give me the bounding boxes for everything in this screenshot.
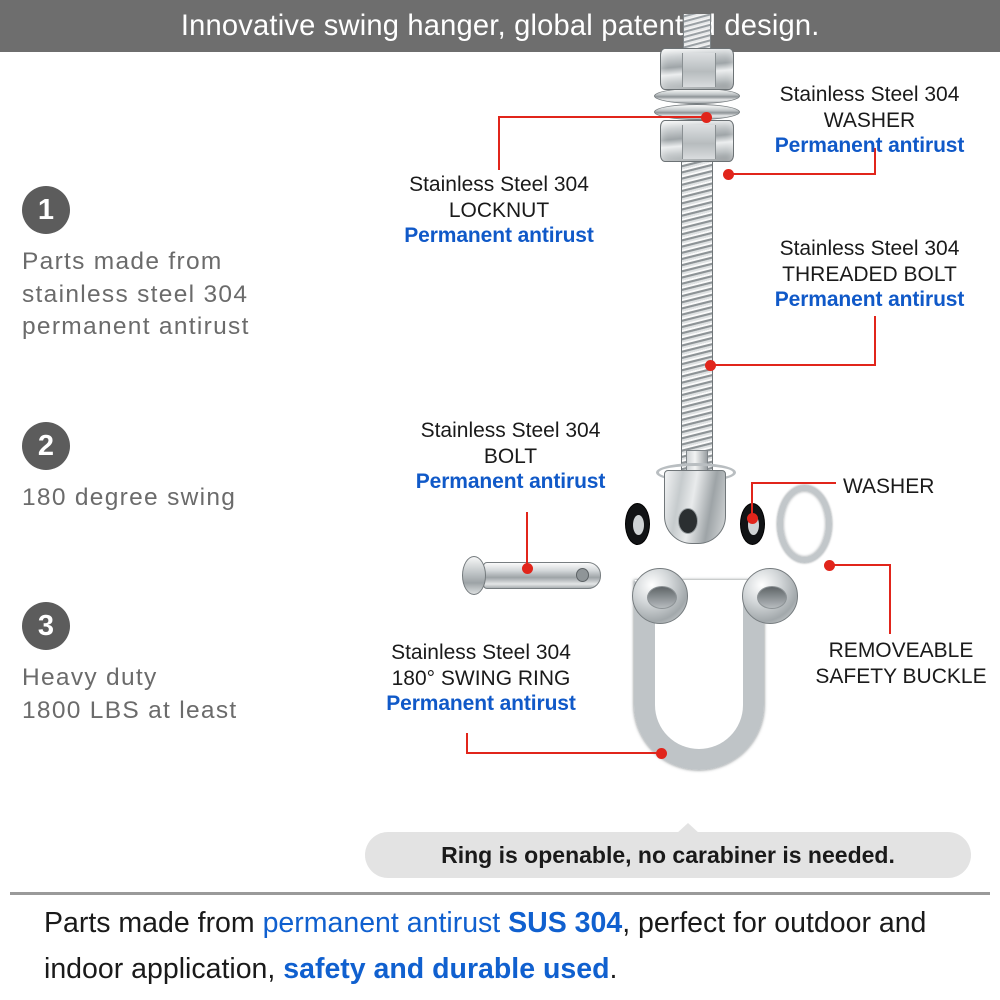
annotation-washer-top: Stainless Steel 304 WASHER Permanent ant…	[742, 82, 997, 159]
bracket-eye-hole-icon	[678, 508, 698, 534]
footer-part-2-highlight: permanent antirust	[263, 907, 509, 939]
annotation-threaded-bolt-line-3: Permanent antirust	[742, 287, 997, 313]
leader-line-threaded-bolt-h	[710, 364, 876, 366]
leader-line-locknut-v	[498, 116, 500, 170]
feature-1-line-1: Parts made from	[22, 248, 223, 275]
feature-item-2-label: 180 degree swing	[22, 482, 236, 515]
number-badge-1-icon: 1	[22, 186, 70, 234]
metal-washer-icon	[654, 88, 740, 104]
annotation-washer-top-line-2: WASHER	[742, 108, 997, 134]
annotation-washer-top-line-3: Permanent antirust	[742, 133, 997, 159]
feature-item-3-label: Heavy duty 1800 LBS at least	[22, 662, 238, 727]
callout-text: Ring is openable, no carabiner is needed…	[441, 842, 895, 869]
number-badge-3-icon: 3	[22, 602, 70, 650]
footer-divider	[10, 892, 990, 895]
annotation-locknut: Stainless Steel 304 LOCKNUT Permanent an…	[370, 172, 628, 249]
annotation-safety-buckle-line-2: SAFETY BUCKLE	[805, 664, 997, 690]
leader-line-safety-buckle-h	[829, 564, 891, 566]
annotation-bolt-line-3: Permanent antirust	[383, 469, 638, 495]
callout-banner: Ring is openable, no carabiner is needed…	[365, 832, 971, 878]
annotation-swing-ring-line-3: Permanent antirust	[352, 691, 610, 717]
footer-part-3-material: SUS 304	[508, 907, 622, 939]
leader-line-safety-buckle-v	[889, 564, 891, 634]
feature-3-line-1: Heavy duty	[22, 664, 158, 691]
hex-nut-icon	[660, 48, 734, 90]
swivel-bracket-icon	[664, 470, 726, 544]
annotation-washer-rubber: WASHER	[843, 474, 993, 500]
annotation-safety-buckle-line-1: REMOVEABLE	[805, 638, 997, 664]
annotation-threaded-bolt-line-1: Stainless Steel 304	[742, 236, 997, 262]
footer-text: Parts made from permanent antirust SUS 3…	[44, 900, 974, 992]
leader-line-swing-ring-h	[466, 752, 661, 754]
footer-part-1: Parts made from	[44, 907, 263, 939]
leader-line-threaded-bolt-v	[874, 316, 876, 366]
clevis-pin-hole-icon	[576, 568, 589, 582]
feature-item-2: 2 180 degree swing	[22, 422, 236, 515]
leader-line-washer-rubber-h	[751, 482, 836, 484]
hex-nut-icon	[660, 120, 734, 162]
leader-line-washer-top-h	[728, 173, 876, 175]
annotation-threaded-bolt: Stainless Steel 304 THREADED BOLT Perman…	[742, 236, 997, 313]
feature-item-1: 1 Parts made from stainless steel 304 pe…	[22, 186, 250, 344]
footer-part-5-highlight: safety and durable used	[283, 953, 609, 985]
number-badge-2-icon: 2	[22, 422, 70, 470]
annotation-bolt-line-1: Stainless Steel 304	[383, 418, 638, 444]
annotation-locknut-line-2: LOCKNUT	[370, 198, 628, 224]
feature-3-line-2: 1800 LBS at least	[22, 697, 238, 724]
annotation-bolt: Stainless Steel 304 BOLT Permanent antir…	[383, 418, 638, 495]
page-title: Innovative swing hanger, global patented…	[181, 9, 820, 43]
annotation-locknut-line-3: Permanent antirust	[370, 223, 628, 249]
rubber-washer-icon	[625, 503, 650, 545]
feature-item-3: 3 Heavy duty 1800 LBS at least	[22, 602, 238, 727]
shackle-ear-right-icon	[742, 568, 798, 624]
split-ring-icon	[777, 485, 832, 563]
annotation-swing-ring-line-2: 180° SWING RING	[352, 666, 610, 692]
annotation-swing-ring: Stainless Steel 304 180° SWING RING Perm…	[352, 640, 610, 717]
leader-line-locknut-h	[498, 116, 706, 118]
leader-line-swing-ring-v	[466, 733, 468, 754]
annotation-bolt-line-2: BOLT	[383, 444, 638, 470]
annotation-threaded-bolt-line-2: THREADED BOLT	[742, 262, 997, 288]
header-banner: Innovative swing hanger, global patented…	[0, 0, 1000, 52]
footer-part-6: .	[610, 953, 618, 985]
feature-2-line-1: 180 degree swing	[22, 484, 236, 511]
feature-1-line-3: permanent antirust	[22, 313, 250, 340]
threaded-rod-icon	[683, 14, 711, 50]
feature-1-line-2: stainless steel 304	[22, 281, 248, 308]
leader-line-bolt-v	[526, 512, 528, 568]
annotation-locknut-line-1: Stainless Steel 304	[370, 172, 628, 198]
leader-line-washer-rubber-v	[751, 482, 753, 518]
feature-item-1-label: Parts made from stainless steel 304 perm…	[22, 246, 250, 344]
annotation-washer-top-line-1: Stainless Steel 304	[742, 82, 997, 108]
annotation-washer-rubber-line-1: WASHER	[843, 474, 993, 500]
clevis-pin-head-icon	[462, 556, 486, 595]
annotation-safety-buckle: REMOVEABLE SAFETY BUCKLE	[805, 638, 997, 689]
annotation-swing-ring-line-1: Stainless Steel 304	[352, 640, 610, 666]
shackle-ear-left-icon	[632, 568, 688, 624]
